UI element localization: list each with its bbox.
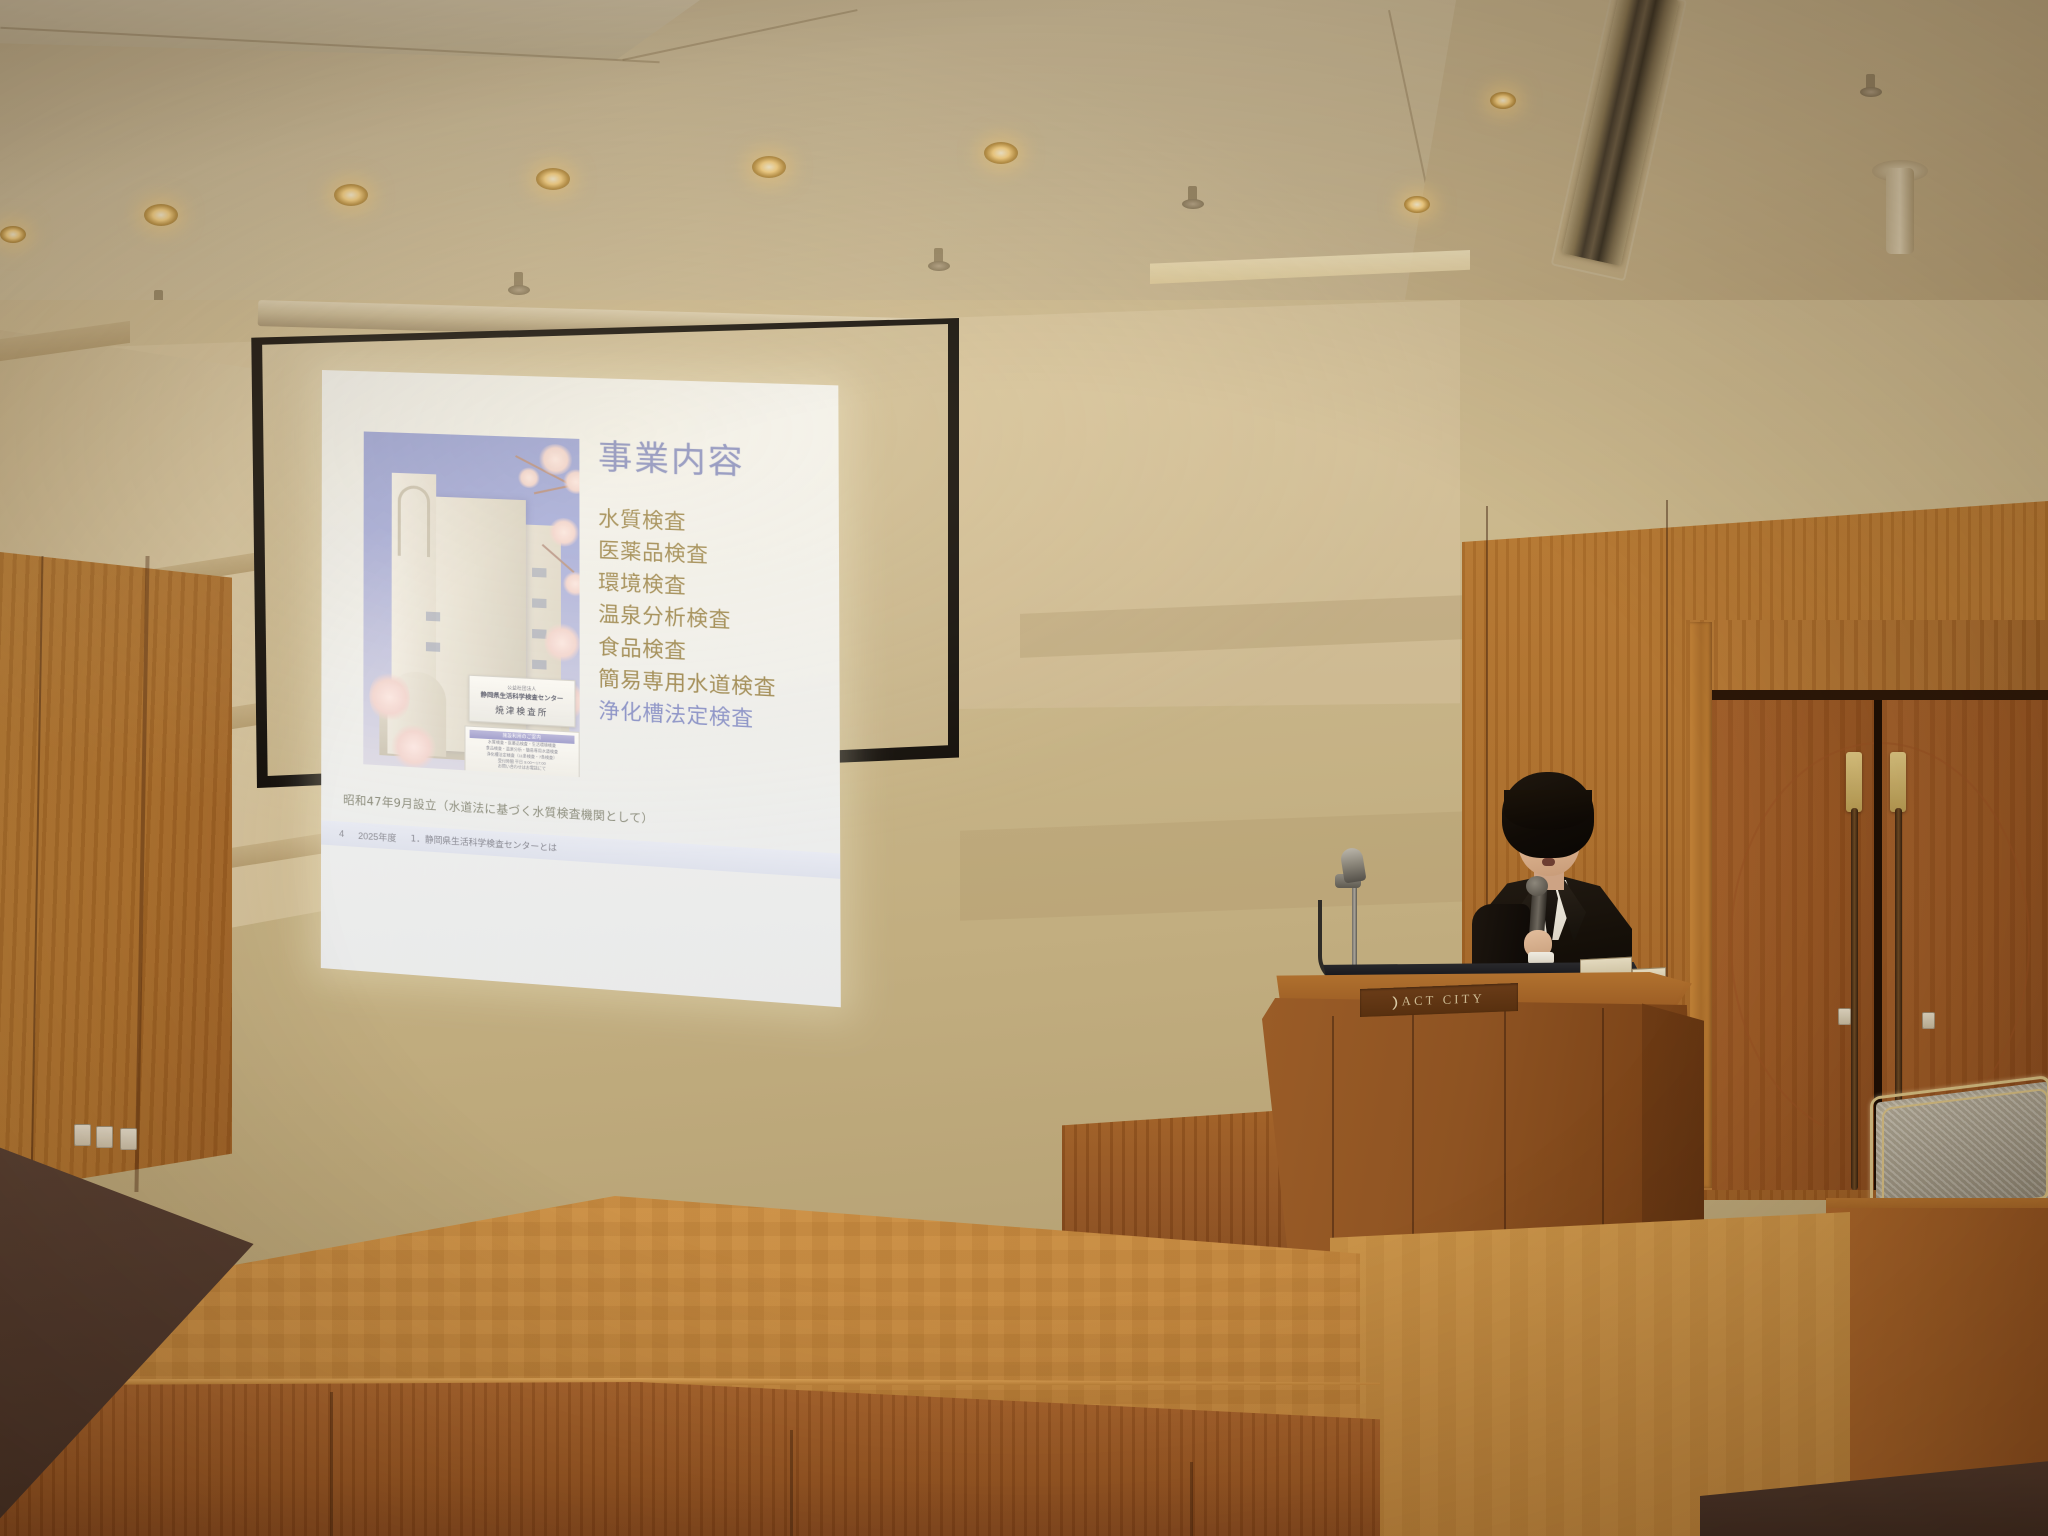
- stage-panel-seam: [790, 1430, 793, 1536]
- ceiling-downlight: [536, 168, 570, 190]
- slide-title: 事業内容: [598, 429, 745, 484]
- sign-organisation: 静岡県生活科学検査センター: [481, 689, 564, 703]
- wall-outlet[interactable]: [74, 1124, 91, 1146]
- door-header-shadow: [1712, 690, 2048, 700]
- slide-bullet-list: 水質検査 医薬品検査 環境検査 温泉分析検査 食品検査 簡易専用水道検査 浄化槽…: [598, 503, 841, 741]
- slide-building-photo: 公益社団法人 静岡県生活科学検査センター 焼津検査所 施設利用のご案内 水質検査…: [363, 431, 579, 777]
- pendant-light-stem: [1886, 168, 1914, 254]
- microphone-stand[interactable]: [1352, 880, 1357, 978]
- sprinkler-head-icon: [1182, 186, 1204, 212]
- presenter-mouth: [1542, 858, 1555, 866]
- presenter-hair-fringe: [1504, 790, 1592, 830]
- sprinkler-head-icon: [928, 248, 950, 274]
- building-arch-detail: [398, 485, 430, 557]
- cherry-blossom: [548, 517, 579, 547]
- ceiling-downlight: [1404, 196, 1430, 213]
- building-window: [532, 660, 546, 670]
- cherry-blossom: [563, 469, 580, 495]
- projected-slide: 公益社団法人 静岡県生活科学検査センター 焼津検査所 施設利用のご案内 水質検査…: [321, 370, 841, 1007]
- stage-platform-right: [1330, 1212, 1850, 1536]
- presenter-shirt-cuff: [1528, 952, 1554, 964]
- door-push-bar[interactable]: [1851, 808, 1858, 1190]
- sign-branch: 焼津検査所: [495, 703, 548, 718]
- building-window: [532, 568, 546, 578]
- ceiling-downlight: [334, 184, 368, 206]
- stage-panel-seam: [330, 1392, 333, 1536]
- wall-outlet[interactable]: [96, 1126, 113, 1148]
- slide-establishment-note: 昭和47年9月設立（水道法に基づく水質検査機関として）: [343, 791, 654, 827]
- conference-hall-photo: 公益社団法人 静岡県生活科学検査センター 焼津検査所 施設利用のご案内 水質検査…: [0, 0, 2048, 1536]
- building-window: [426, 642, 440, 652]
- building-window: [532, 598, 546, 608]
- slide-footer: 4 2025年度 1．静岡県生活科学検査センターとは: [321, 820, 840, 879]
- ceiling-downlight: [984, 142, 1018, 164]
- ceiling-soffit-right: [1405, 0, 2048, 350]
- stage-panel-seam: [1190, 1462, 1193, 1536]
- ceiling-downlight: [0, 226, 26, 243]
- slide-section-label: 1．静岡県生活科学検査センターとは: [411, 832, 557, 854]
- cherry-blossom: [544, 621, 579, 664]
- centre-name-board: 公益社団法人 静岡県生活科学検査センター 焼津検査所: [469, 675, 576, 728]
- ceiling-downlight: [1490, 92, 1516, 109]
- building-window: [426, 612, 440, 622]
- cherry-blossom: [563, 571, 580, 597]
- sprinkler-head-icon: [508, 272, 530, 298]
- door-handle[interactable]: [1890, 752, 1906, 812]
- slide-fiscal-year: 2025年度: [358, 828, 396, 844]
- ceiling-downlight: [144, 204, 178, 226]
- wall-outlet[interactable]: [120, 1128, 137, 1150]
- door-handle[interactable]: [1846, 752, 1862, 812]
- slide-page-number: 4: [339, 829, 344, 839]
- handheld-microphone-capsule: [1526, 876, 1548, 896]
- door-strike-plate: [1922, 1012, 1935, 1029]
- left-wall-wood-panel: [0, 552, 232, 1192]
- notice-board: 施設利用のご案内 水質検査・医薬品検査・生活環境検査 食品検査・温泉分析・簡易専…: [464, 725, 579, 777]
- door-strike-plate: [1838, 1008, 1851, 1025]
- ceiling-downlight: [752, 156, 786, 178]
- act-city-logo-icon: ): [1392, 994, 1398, 1010]
- venue-name: ACT CITY: [1402, 991, 1485, 1009]
- sprinkler-head-icon: [1860, 74, 1882, 100]
- cherry-blossom: [518, 467, 541, 488]
